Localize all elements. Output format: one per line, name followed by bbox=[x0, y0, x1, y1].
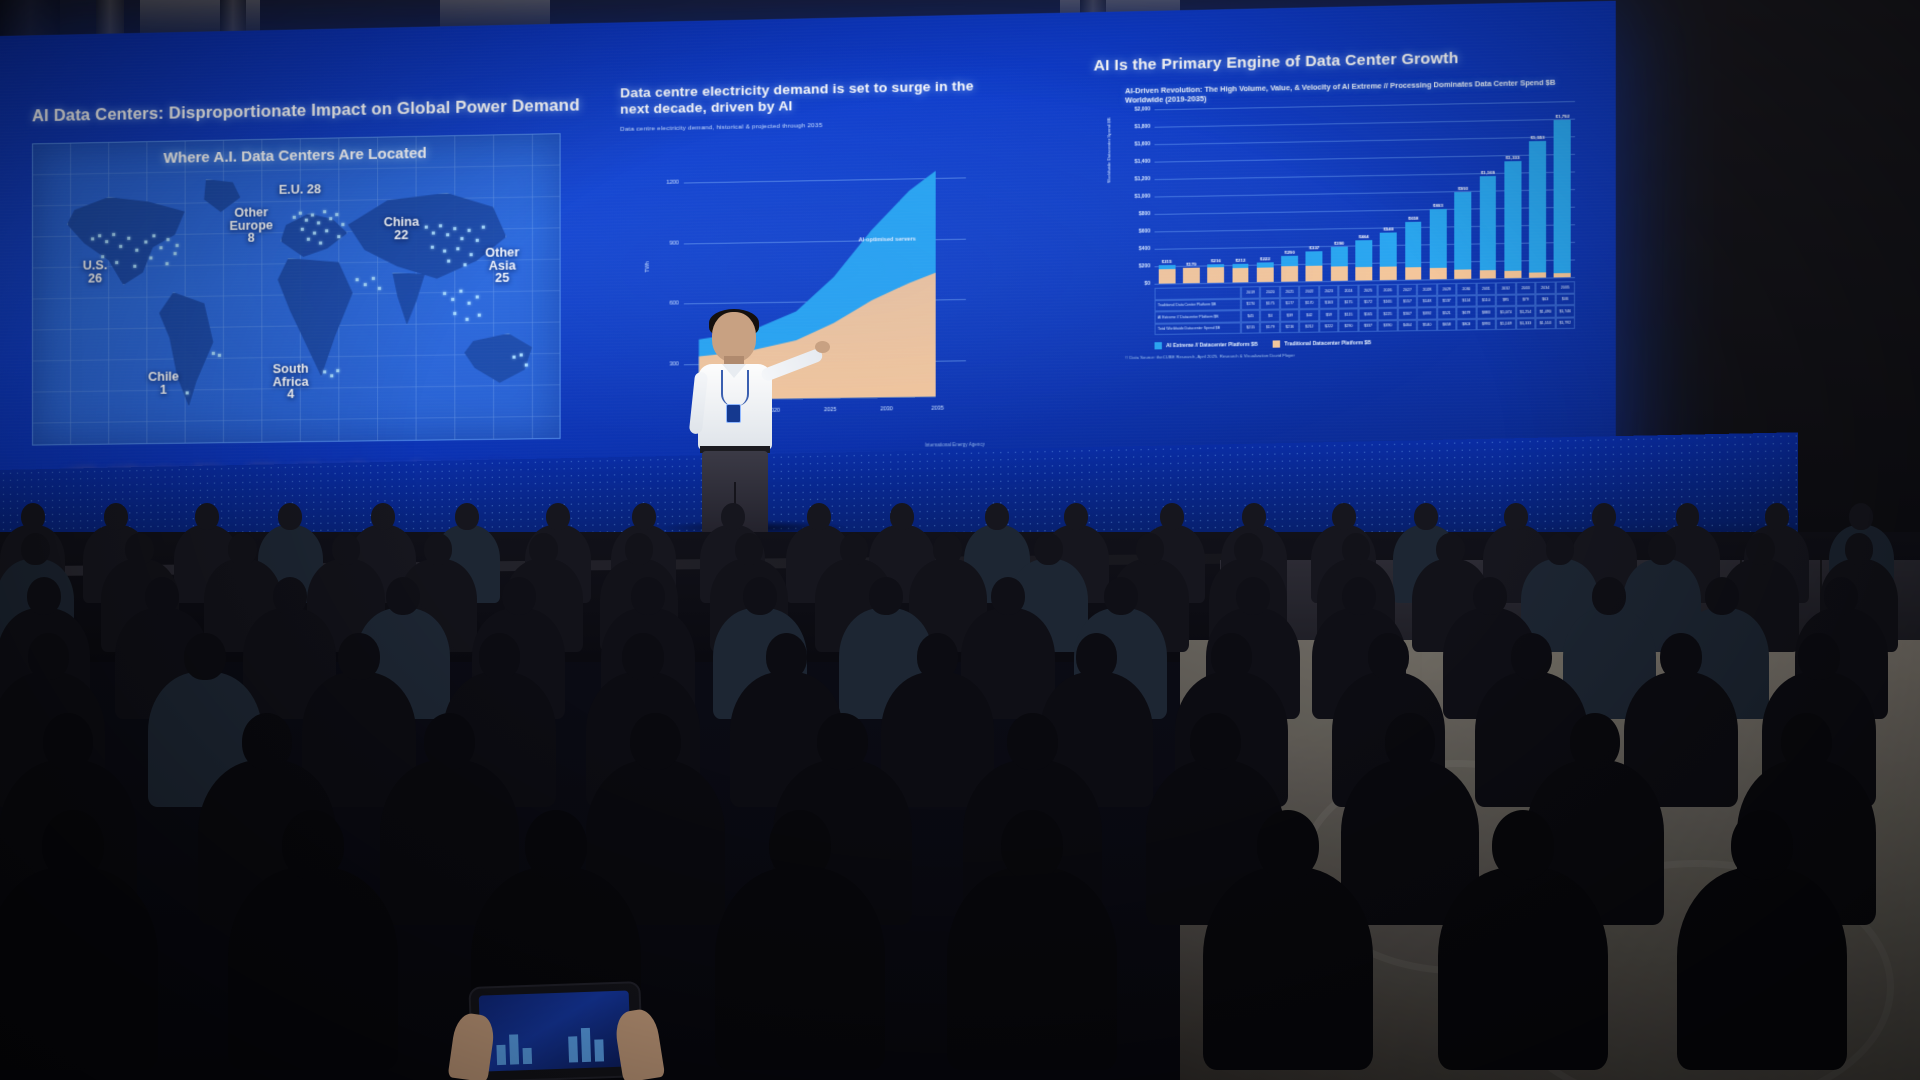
bar-value-label: $1,333 bbox=[1506, 155, 1520, 160]
bytick-0: $0 bbox=[1145, 281, 1151, 286]
table-cell-year: 2019 bbox=[1241, 286, 1261, 298]
table-cell-traditional: $148 bbox=[1417, 295, 1437, 307]
table-cell-year: 2027 bbox=[1398, 284, 1418, 296]
map-label-chile-count: 1 bbox=[141, 384, 185, 398]
map-label-chile: Chile 1 bbox=[141, 370, 185, 397]
bar-segment-traditional bbox=[1208, 267, 1225, 283]
table-cell-total: $1,333 bbox=[1516, 318, 1536, 330]
dc-cluster-middle-east bbox=[354, 275, 384, 296]
bar-2027: $464 bbox=[1355, 240, 1372, 281]
table-cell-ai: $4 bbox=[1260, 310, 1280, 322]
table-cell-total: $1,169 bbox=[1496, 318, 1516, 330]
table-cell-total: $540 bbox=[1417, 319, 1437, 331]
phone-screen-bar bbox=[496, 1045, 506, 1065]
presenter-right-arm bbox=[760, 347, 824, 382]
table-cell-ai: $883 bbox=[1476, 306, 1496, 318]
presenter-leg-split bbox=[734, 482, 736, 533]
presenter bbox=[676, 312, 826, 532]
bar-chart: Worldwide Datacenter Spend $B $2,000 $1,… bbox=[1104, 97, 1579, 363]
bytick-800: $800 bbox=[1139, 211, 1150, 216]
table-cell-traditional: $79 bbox=[1516, 294, 1536, 306]
bar-segment-traditional bbox=[1454, 269, 1471, 279]
table-cell-ai: $307 bbox=[1398, 307, 1418, 319]
bar-segment-traditional bbox=[1158, 269, 1175, 284]
dc-cluster-south-africa bbox=[321, 368, 341, 382]
bar-group: $215$179$216$212$222$290$337$390$464$540… bbox=[1155, 101, 1575, 284]
map-label-south-africa-name: South Africa bbox=[262, 362, 319, 388]
bar-value-label: $290 bbox=[1285, 250, 1295, 255]
bar-2032: $1,169 bbox=[1479, 176, 1496, 279]
bar-value-label: $464 bbox=[1359, 233, 1369, 238]
bar-value-label: $540 bbox=[1383, 226, 1393, 231]
bar-2030: $803 bbox=[1430, 209, 1447, 280]
legend-swatch-traditional bbox=[1273, 340, 1280, 347]
map-label-china: China 22 bbox=[374, 215, 429, 242]
table-cell-year: 2022 bbox=[1300, 285, 1320, 297]
map-label-other-europe-name: Other Europe bbox=[220, 206, 283, 232]
table-cell-total: $216 bbox=[1280, 321, 1300, 333]
table-cell-total: $803 bbox=[1457, 318, 1477, 330]
table-cell-total: $222 bbox=[1319, 320, 1339, 332]
table-cell-traditional: $165 bbox=[1378, 296, 1398, 308]
bar-2033: $1,333 bbox=[1504, 161, 1521, 278]
bytick-1400: $1,400 bbox=[1135, 159, 1151, 164]
table-cell-traditional: $170 bbox=[1300, 297, 1320, 309]
presenter-head bbox=[712, 312, 756, 362]
bar-segment-ai bbox=[1380, 233, 1397, 268]
bar-segment-ai bbox=[1479, 176, 1496, 271]
table-cell-total: $215 bbox=[1241, 322, 1261, 334]
bar-2023: $222 bbox=[1257, 262, 1274, 282]
dc-cluster-chile bbox=[184, 388, 198, 400]
bar-segment-ai bbox=[1281, 256, 1298, 266]
table-cell-total: $337 bbox=[1358, 320, 1378, 332]
bar-segment-traditional bbox=[1529, 272, 1546, 278]
bar-segment-traditional bbox=[1430, 268, 1447, 279]
bar-segment-ai bbox=[1306, 252, 1323, 267]
bar-value-label: $337 bbox=[1309, 245, 1319, 250]
bar-value-label: $390 bbox=[1334, 240, 1344, 245]
table-cell-traditional: $175 bbox=[1260, 298, 1280, 310]
slide-left-title: AI Data Centers: Disproportionate Impact… bbox=[18, 96, 585, 126]
legend-swatch-ai bbox=[1155, 342, 1162, 349]
table-cell-ai: $59 bbox=[1319, 309, 1339, 321]
bytick-400: $400 bbox=[1139, 246, 1150, 251]
dc-cluster-brazil bbox=[210, 350, 226, 360]
bar-value-label: $803 bbox=[1433, 202, 1443, 207]
bytick-1200: $1,200 bbox=[1135, 177, 1151, 182]
table-cell-traditional: $63 bbox=[1535, 293, 1555, 305]
table-cell-year: 2021 bbox=[1280, 286, 1300, 298]
bar-segment-traditional bbox=[1306, 266, 1323, 281]
table-cell-traditional: $137 bbox=[1437, 295, 1457, 307]
legend-item-ai: AI Extreme // Datacenter Platform $B bbox=[1155, 341, 1258, 350]
legend-item-traditional: Traditional Datacenter Platform $B bbox=[1273, 339, 1372, 348]
area-chart-ylabel: TWh bbox=[645, 262, 651, 273]
table-cell-total: $658 bbox=[1437, 319, 1457, 331]
map-label-south-africa: South Africa 4 bbox=[262, 362, 319, 401]
bar-chart-ylabel: Worldwide Datacenter Spend $B bbox=[1106, 118, 1111, 183]
bytick-2000: $2,000 bbox=[1135, 107, 1151, 112]
ytick-1200: 1200 bbox=[666, 180, 678, 186]
table-cell-ai: $1,074 bbox=[1496, 306, 1516, 318]
slide-right: AI Is the Primary Engine of Data Center … bbox=[1064, 47, 1594, 447]
bar-chart-source: © Data Source: theCUBE Research, April 2… bbox=[1125, 353, 1295, 361]
bar-segment-traditional bbox=[1232, 267, 1249, 282]
phone-screen-bar bbox=[509, 1034, 519, 1064]
table-cell-traditional: $157 bbox=[1398, 296, 1418, 308]
bar-2025: $337 bbox=[1306, 252, 1323, 282]
map-label-us: U.S. 26 bbox=[67, 259, 123, 286]
bar-segment-traditional bbox=[1380, 267, 1397, 280]
bar-2026: $390 bbox=[1331, 247, 1348, 281]
presenter-lanyard bbox=[721, 370, 749, 406]
table-cell-ai: $39 bbox=[1280, 309, 1300, 321]
table-cell-ai: $42 bbox=[1300, 309, 1320, 321]
bytick-1000: $1,000 bbox=[1135, 194, 1151, 199]
map-label-other-europe: Other Europe 8 bbox=[220, 206, 283, 245]
map-label-other-asia-count: 25 bbox=[478, 271, 527, 285]
table-cell-year: 2025 bbox=[1358, 284, 1378, 296]
bar-segment-traditional bbox=[1281, 266, 1298, 282]
table-cell-total: $1,792 bbox=[1555, 317, 1575, 329]
xtick-2035: 2035 bbox=[931, 406, 944, 412]
bar-segment-traditional bbox=[1183, 268, 1200, 284]
bar-segment-ai bbox=[1355, 240, 1372, 267]
map-label-south-africa-count: 4 bbox=[262, 388, 319, 402]
bytick-1800: $1,800 bbox=[1135, 124, 1151, 129]
table-cell-traditional: $110 bbox=[1476, 294, 1496, 306]
bar-2029: $658 bbox=[1405, 222, 1422, 280]
bar-value-label: $222 bbox=[1260, 256, 1270, 261]
phone-screen-bar bbox=[581, 1028, 591, 1062]
bar-2034: $1,553 bbox=[1529, 141, 1546, 278]
map-label-eu: E.U. 28 bbox=[264, 183, 335, 198]
table-cell-total: $290 bbox=[1339, 320, 1359, 332]
table-cell-traditional: $124 bbox=[1457, 295, 1477, 307]
bar-chart-legend: AI Extreme // Datacenter Platform $B Tra… bbox=[1155, 339, 1372, 349]
phone-screen bbox=[479, 990, 632, 1071]
world-map-card: Where A.I. Data Centers Are Located bbox=[32, 133, 561, 445]
phone-screen-bar bbox=[594, 1039, 604, 1061]
table-cell-total: $464 bbox=[1398, 319, 1418, 331]
phone-screen-bar bbox=[568, 1036, 578, 1062]
table-cell-traditional: $46 bbox=[1555, 293, 1575, 305]
table-cell-total: $212 bbox=[1300, 321, 1320, 333]
table-cell-ai: $1,746 bbox=[1555, 305, 1575, 317]
table-cell-year: 2029 bbox=[1437, 283, 1457, 295]
bar-segment-ai bbox=[1331, 247, 1348, 267]
bar-2019: $215 bbox=[1158, 265, 1175, 284]
bar-2035: $1,792 bbox=[1554, 119, 1571, 277]
venue-carpet bbox=[1180, 640, 1920, 1080]
table-cell-ai: $45 bbox=[1241, 310, 1261, 322]
bar-segment-traditional bbox=[1355, 267, 1372, 281]
table-cell-total: $993 bbox=[1476, 318, 1496, 330]
table-cell-ai: $392 bbox=[1417, 307, 1437, 319]
table-cell-year: 2030 bbox=[1457, 283, 1477, 295]
map-label-us-count: 26 bbox=[67, 272, 123, 286]
bar-segment-ai bbox=[1504, 161, 1521, 272]
map-label-eu-text: E.U. 28 bbox=[264, 183, 335, 198]
bar-segment-traditional bbox=[1331, 266, 1348, 281]
bar-segment-traditional bbox=[1405, 267, 1422, 279]
table-cell-year: 2031 bbox=[1476, 282, 1496, 294]
annotation-text: AI-optimised servers bbox=[858, 237, 916, 244]
ytick-600: 600 bbox=[669, 300, 678, 306]
bar-segment-ai bbox=[1454, 192, 1471, 270]
bar-segment-traditional bbox=[1554, 273, 1571, 277]
bytick-200: $200 bbox=[1139, 264, 1150, 269]
slide-center-title: Data centre electricity demand is set to… bbox=[620, 78, 993, 119]
bar-value-label: $1,792 bbox=[1555, 113, 1569, 118]
table-cell-ai: $679 bbox=[1457, 307, 1477, 319]
table-cell-year: 2034 bbox=[1535, 282, 1555, 294]
table-cell-total: $390 bbox=[1378, 320, 1398, 332]
dc-cluster-australia bbox=[510, 351, 533, 372]
table-cell-year: 2020 bbox=[1260, 286, 1280, 298]
phone-screen-bar bbox=[523, 1048, 533, 1064]
map-label-other-asia-name: Other Asia bbox=[478, 246, 527, 272]
legend-label-ai: AI Extreme // Datacenter Platform $B bbox=[1166, 341, 1258, 348]
area-chart-annotation: AI-optimised servers bbox=[858, 237, 916, 245]
table-cell-ai: $225 bbox=[1378, 308, 1398, 320]
bar-value-label: $215 bbox=[1162, 259, 1172, 264]
bar-value-label: $179 bbox=[1186, 261, 1196, 266]
bar-segment-traditional bbox=[1257, 268, 1274, 283]
table-cell-traditional: $175 bbox=[1339, 296, 1359, 308]
bytick-1600: $1,600 bbox=[1135, 142, 1151, 147]
table-cell-traditional: $177 bbox=[1280, 297, 1300, 309]
table-cell-ai: $521 bbox=[1437, 307, 1457, 319]
table-cell-year: 2035 bbox=[1555, 281, 1575, 293]
table-cell-ai: $1,490 bbox=[1535, 305, 1555, 317]
map-label-china-count: 22 bbox=[374, 229, 429, 243]
bar-segment-ai bbox=[1554, 119, 1571, 273]
table-cell-traditional: $172 bbox=[1358, 296, 1378, 308]
slide-right-title: AI Is the Primary Engine of Data Center … bbox=[1064, 47, 1594, 75]
map-label-eu-name: E.U. bbox=[279, 182, 304, 197]
table-cell-year: 2032 bbox=[1496, 282, 1516, 294]
bar-2021: $216 bbox=[1208, 264, 1225, 283]
presenter-badge bbox=[726, 404, 741, 423]
legend-label-traditional: Traditional Datacenter Platform $B bbox=[1284, 340, 1371, 347]
dc-cluster-europe bbox=[291, 207, 350, 252]
bar-2024: $290 bbox=[1281, 256, 1298, 282]
table-cell-ai: $115 bbox=[1339, 308, 1359, 320]
table-cell-year: 2026 bbox=[1378, 284, 1398, 296]
area-chart-source: International Energy Agency bbox=[925, 442, 985, 449]
bar-2020: $179 bbox=[1183, 267, 1200, 283]
table-cell-total: $1,553 bbox=[1535, 317, 1555, 329]
table-cell-traditional: $95 bbox=[1496, 294, 1516, 306]
bar-value-label: $1,553 bbox=[1531, 135, 1545, 140]
bar-segment-ai bbox=[1529, 141, 1546, 272]
table-cell-ai: $165 bbox=[1358, 308, 1378, 320]
table-cell-year: 2023 bbox=[1319, 285, 1339, 297]
bar-chart-data-table: 2019202020212022202320242025202620272028… bbox=[1155, 281, 1575, 335]
dc-cluster-other-asia bbox=[441, 287, 490, 330]
bar-segment-traditional bbox=[1479, 270, 1496, 279]
map-label-other-europe-count: 8 bbox=[220, 231, 283, 245]
map-label-eu-count: 28 bbox=[307, 182, 321, 196]
xtick-2030: 2030 bbox=[880, 406, 892, 412]
table-cell-ai: $1,254 bbox=[1516, 306, 1536, 318]
presenter-hand bbox=[815, 341, 830, 353]
map-label-other-asia: Other Asia 25 bbox=[478, 246, 527, 285]
table-cell-year: 2033 bbox=[1516, 282, 1536, 294]
table-cell-year: 2028 bbox=[1417, 283, 1437, 295]
table-cell-total: $179 bbox=[1260, 321, 1280, 333]
bar-value-label: $993 bbox=[1458, 185, 1468, 190]
bar-chart-plot: $2,000 $1,800 $1,600 $1,400 $1,200 $1,00… bbox=[1155, 101, 1575, 284]
table-row-header-total: Total Worldwide Datacenter Spend $B bbox=[1155, 322, 1241, 335]
table-cell-traditional: $163 bbox=[1319, 297, 1339, 309]
bar-segment-traditional bbox=[1504, 271, 1521, 278]
table-cell-traditional: $170 bbox=[1241, 298, 1261, 310]
conference-scene: AI Data Centers: Disproportionate Impact… bbox=[0, 0, 1920, 1080]
bar-2022: $212 bbox=[1232, 264, 1249, 283]
table-cell-year: 2024 bbox=[1339, 285, 1359, 297]
bar-value-label: $658 bbox=[1408, 216, 1418, 221]
slide-center-subtitle: Data centre electricity demand, historic… bbox=[620, 119, 993, 133]
bar-2031: $993 bbox=[1454, 192, 1471, 279]
bytick-600: $600 bbox=[1139, 229, 1150, 234]
ytick-900: 900 bbox=[669, 240, 678, 246]
bar-segment-ai bbox=[1430, 209, 1447, 269]
bar-2028: $540 bbox=[1380, 233, 1397, 281]
bar-value-label: $212 bbox=[1235, 258, 1245, 263]
bar-value-label: $1,169 bbox=[1481, 169, 1495, 174]
bar-value-label: $216 bbox=[1211, 258, 1221, 263]
bar-segment-ai bbox=[1405, 222, 1422, 268]
